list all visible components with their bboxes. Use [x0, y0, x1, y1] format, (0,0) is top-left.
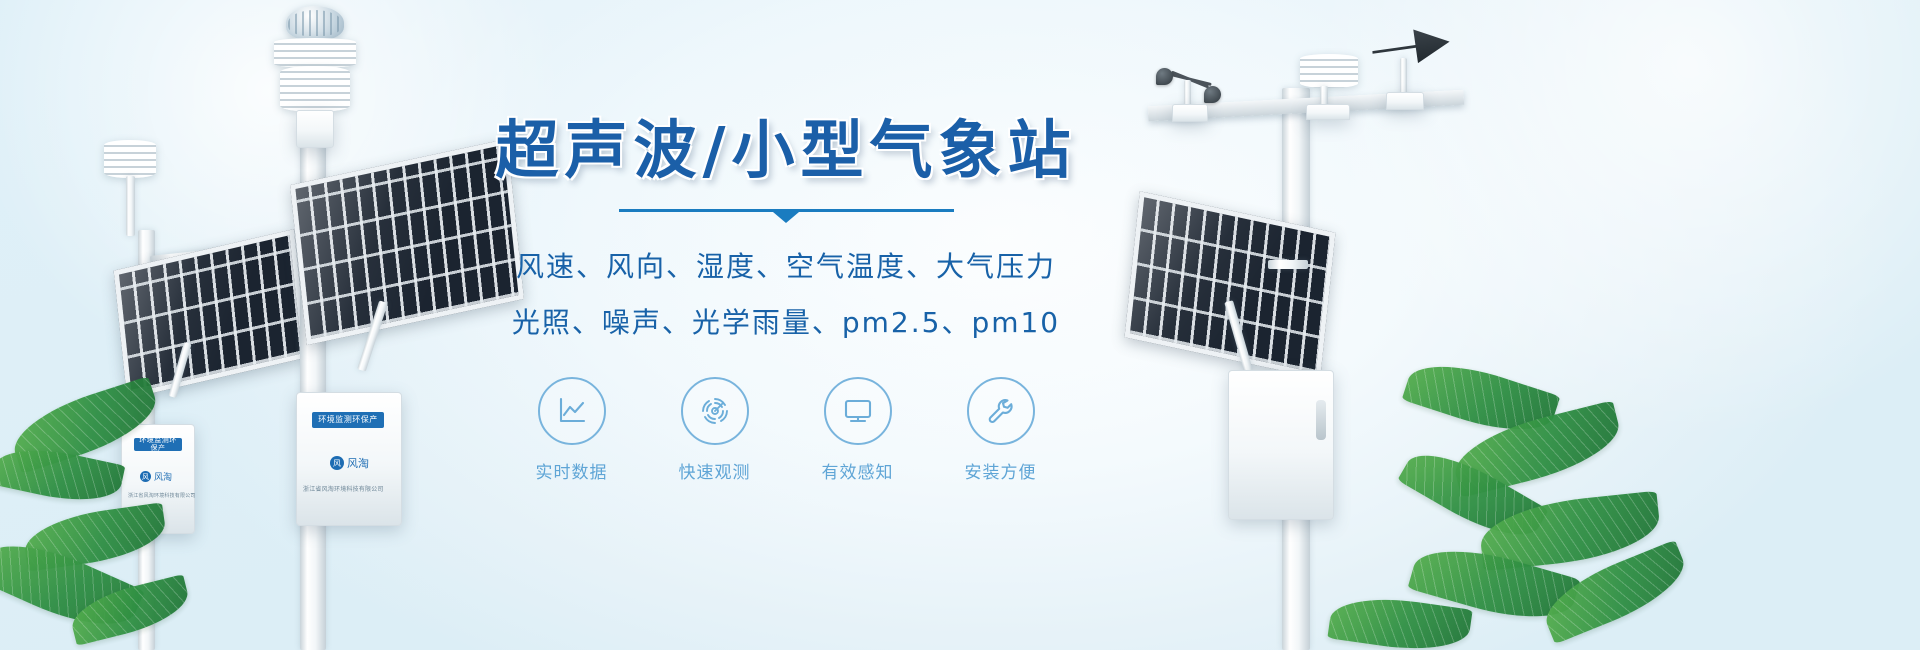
- ultrasonic-transducer-grid: [288, 10, 342, 36]
- right-controller-box: [1228, 370, 1334, 520]
- subtitle-line-2: 光照、噪声、光学雨量、pm2.5、pm10: [436, 301, 1136, 341]
- center-upper-shield: [274, 38, 356, 68]
- wind-vane-base: [1386, 92, 1424, 110]
- feature-item-realtime-data[interactable]: 实时数据: [519, 377, 624, 483]
- banner-content: 超声波/小型气象站 风速、风向、湿度、空气温度、大气压力 光照、噪声、光学雨量、…: [436, 118, 1136, 483]
- wrench-icon: [984, 394, 1018, 428]
- left-box-label: 环境监测环保产: [134, 438, 182, 451]
- right-panel-arm: [1268, 260, 1308, 269]
- feature-item-easy-installation[interactable]: 安装方便: [948, 377, 1053, 483]
- center-brand-name: 风淘: [347, 455, 369, 471]
- left-sensor-mast: [126, 176, 135, 236]
- left-brand-name: 风淘: [154, 470, 172, 483]
- feature-list: 实时数据 快速: [436, 377, 1136, 483]
- right-shield-base: [1306, 104, 1350, 120]
- feature-icon-circle: [681, 377, 749, 445]
- right-box-latch: [1316, 400, 1326, 440]
- divider-arrow-icon: [773, 212, 799, 223]
- feature-icon-circle: [538, 377, 606, 445]
- center-sensor-junction: [296, 110, 334, 148]
- left-box-brand: 风 风淘: [140, 470, 172, 483]
- product-banner: 环境监测环保产 风 风淘 浙江省风淘环境科技有限公司 环境监测环保产 风 风淘 …: [0, 0, 1920, 650]
- feature-label: 有效感知: [822, 458, 894, 483]
- anemometer-cup-1: [1156, 68, 1173, 85]
- monitor-icon: [841, 394, 875, 428]
- subtitle-line-1: 风速、风向、湿度、空气温度、大气压力: [436, 245, 1136, 285]
- feature-item-fast-observation[interactable]: 快速观测: [662, 377, 767, 483]
- center-box-label: 环境监测环保产: [312, 412, 384, 428]
- headline-divider: [619, 209, 954, 223]
- feature-label: 快速观测: [679, 458, 751, 483]
- left-radiation-shield: [104, 140, 156, 178]
- feature-item-effective-sensing[interactable]: 有效感知: [805, 377, 910, 483]
- anemometer-base: [1172, 104, 1208, 122]
- feature-icon-circle: [824, 377, 892, 445]
- right-radiation-shield: [1300, 54, 1358, 88]
- banner-headline: 超声波/小型气象站: [436, 118, 1136, 185]
- center-box-brand: 风 风淘: [330, 455, 369, 471]
- center-radiation-shield: [280, 66, 350, 112]
- radar-scan-icon: [698, 394, 732, 428]
- center-box-footnote: 浙江省风淘环境科技有限公司: [303, 484, 384, 493]
- feature-icon-circle: [967, 377, 1035, 445]
- wind-vane: [1370, 25, 1452, 70]
- left-box-footnote: 浙江省风淘环境科技有限公司: [128, 492, 196, 499]
- feature-label: 实时数据: [536, 458, 608, 483]
- center-brand-dot-icon: 风: [330, 456, 344, 470]
- line-chart-icon: [555, 394, 589, 428]
- feature-label: 安装方便: [965, 458, 1037, 483]
- left-brand-dot-icon: 风: [140, 471, 151, 482]
- anemometer-cup-2: [1204, 86, 1221, 103]
